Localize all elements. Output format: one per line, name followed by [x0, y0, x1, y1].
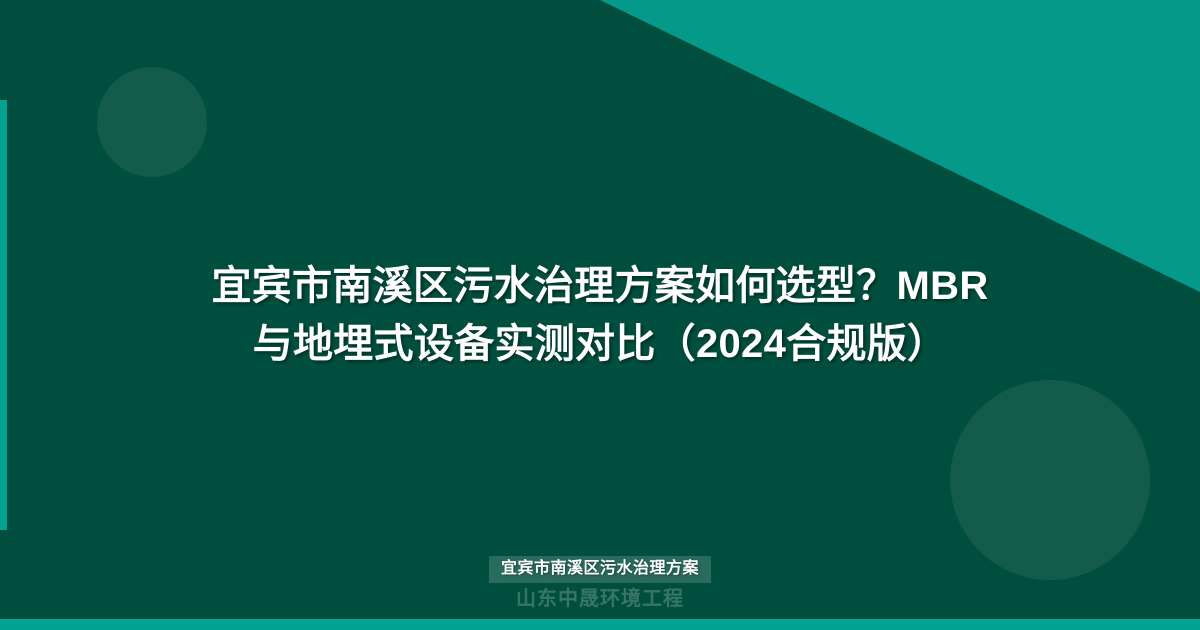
bottom-accent-bar — [0, 619, 1200, 630]
title-container: 宜宾市南溪区污水治理方案如何选型？MBR与地埋式设备实测对比（2024合规版） — [0, 0, 1200, 630]
page-title: 宜宾市南溪区污水治理方案如何选型？MBR与地埋式设备实测对比（2024合规版） — [200, 257, 1000, 373]
status-badge: 宜宾市南溪区污水治理方案 — [489, 556, 711, 583]
watermark-text: 山东中晟环境工程 — [516, 587, 684, 611]
footer: 宜宾市南溪区污水治理方案 山东中晟环境工程 — [0, 556, 1200, 619]
poster-canvas: 宜宾市南溪区污水治理方案如何选型？MBR与地埋式设备实测对比（2024合规版） … — [0, 0, 1200, 630]
